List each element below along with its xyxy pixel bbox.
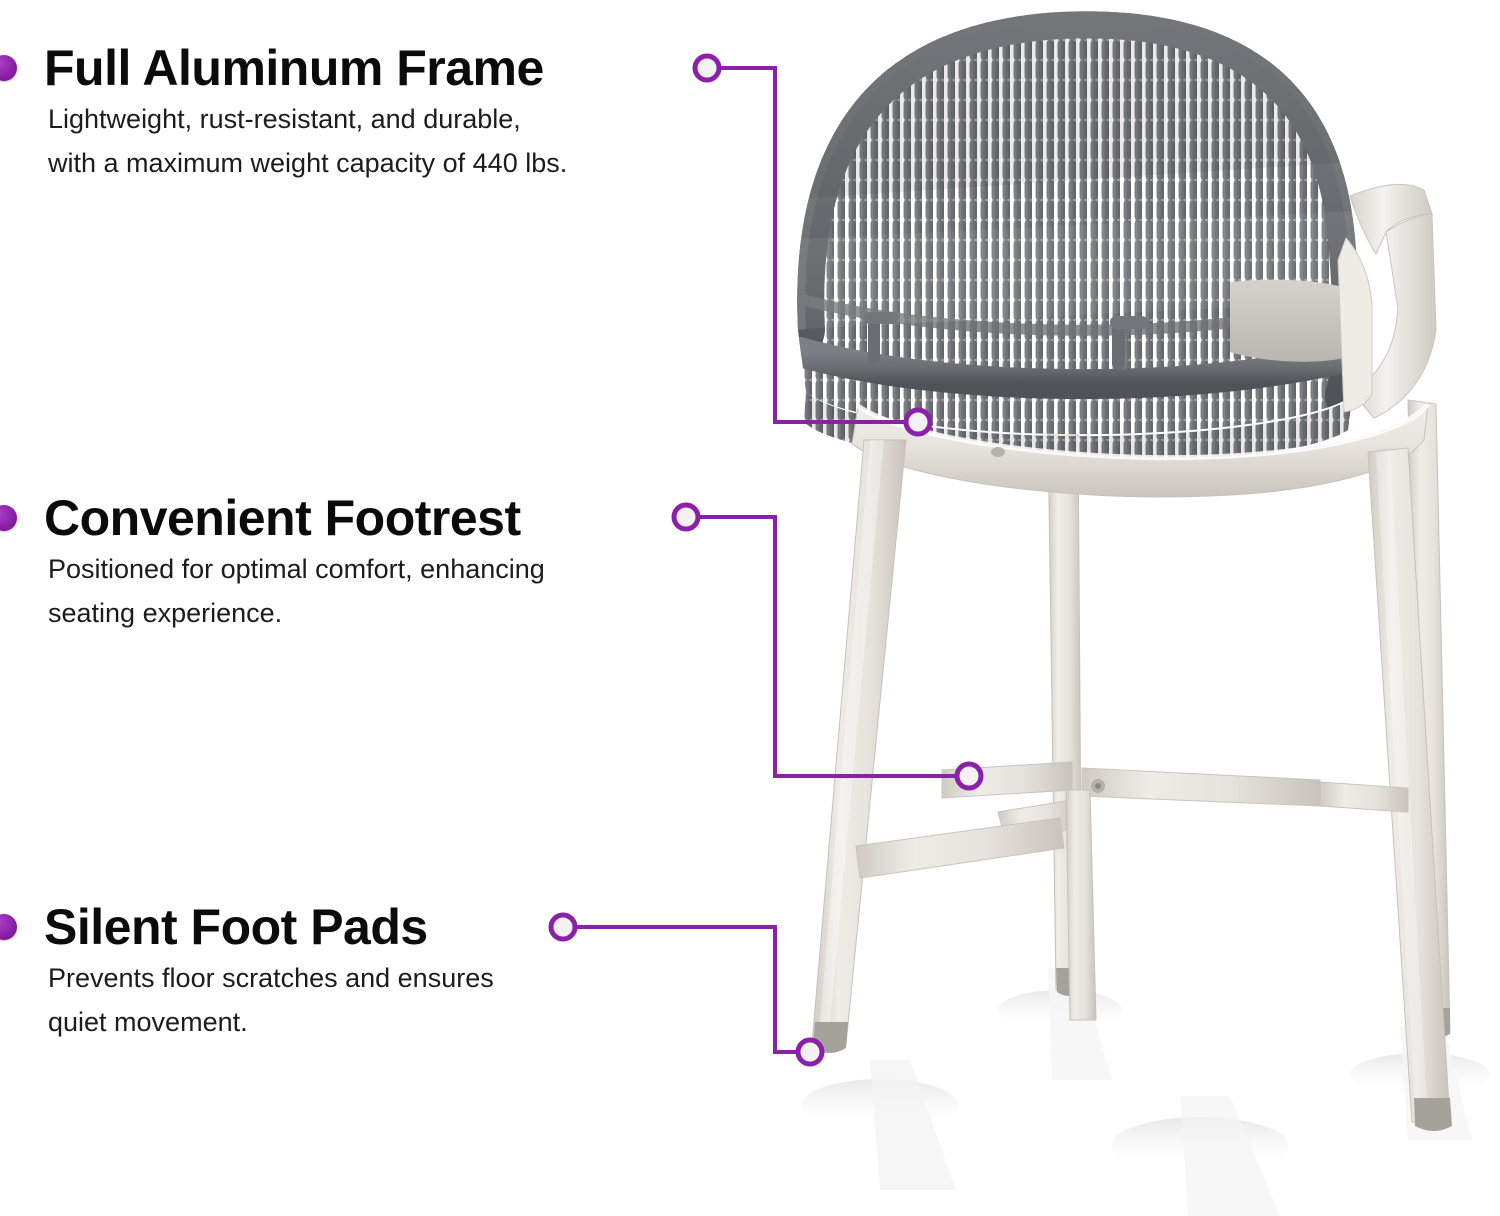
feature-description-line: Positioned for optimal comfort, enhancin…: [48, 548, 720, 592]
feature-heading-row: Silent Foot Pads: [0, 897, 720, 957]
feature-block-foot-pads: Silent Foot Pads Prevents floor scratche…: [0, 897, 720, 1044]
feature-block-footrest: Convenient Footrest Positioned for optim…: [0, 488, 720, 635]
feature-description-line: quiet movement.: [48, 1001, 720, 1045]
bar-stool-illustration: [760, 0, 1500, 1216]
product-image: [760, 0, 1500, 1216]
footrest-crossbars: [856, 762, 1320, 1020]
feature-block-aluminum-frame: Full Aluminum Frame Lightweight, rust-re…: [0, 38, 720, 185]
rope-backrest: [780, 0, 1380, 480]
feature-description-line: Prevents floor scratches and ensures: [48, 957, 720, 1001]
feature-heading-row: Convenient Footrest: [0, 488, 720, 548]
feature-title: Full Aluminum Frame: [0, 43, 544, 93]
feature-description: Positioned for optimal comfort, enhancin…: [0, 548, 720, 635]
feature-title: Convenient Footrest: [0, 493, 521, 543]
front-left-leg: [812, 440, 906, 1053]
feature-description: Prevents floor scratches and ensures qui…: [0, 957, 720, 1044]
product-feature-infographic: Full Aluminum Frame Lightweight, rust-re…: [0, 0, 1500, 1216]
feature-description-line: seating experience.: [48, 592, 720, 636]
feature-title: Silent Foot Pads: [0, 902, 428, 952]
feature-heading-row: Full Aluminum Frame: [0, 38, 720, 98]
feature-description-line: with a maximum weight capacity of 440 lb…: [48, 142, 720, 186]
foot-pad: [1414, 1098, 1452, 1131]
feature-description-line: Lightweight, rust-resistant, and durable…: [48, 98, 720, 142]
feature-description: Lightweight, rust-resistant, and durable…: [0, 98, 720, 185]
foot-pad: [813, 1022, 848, 1053]
